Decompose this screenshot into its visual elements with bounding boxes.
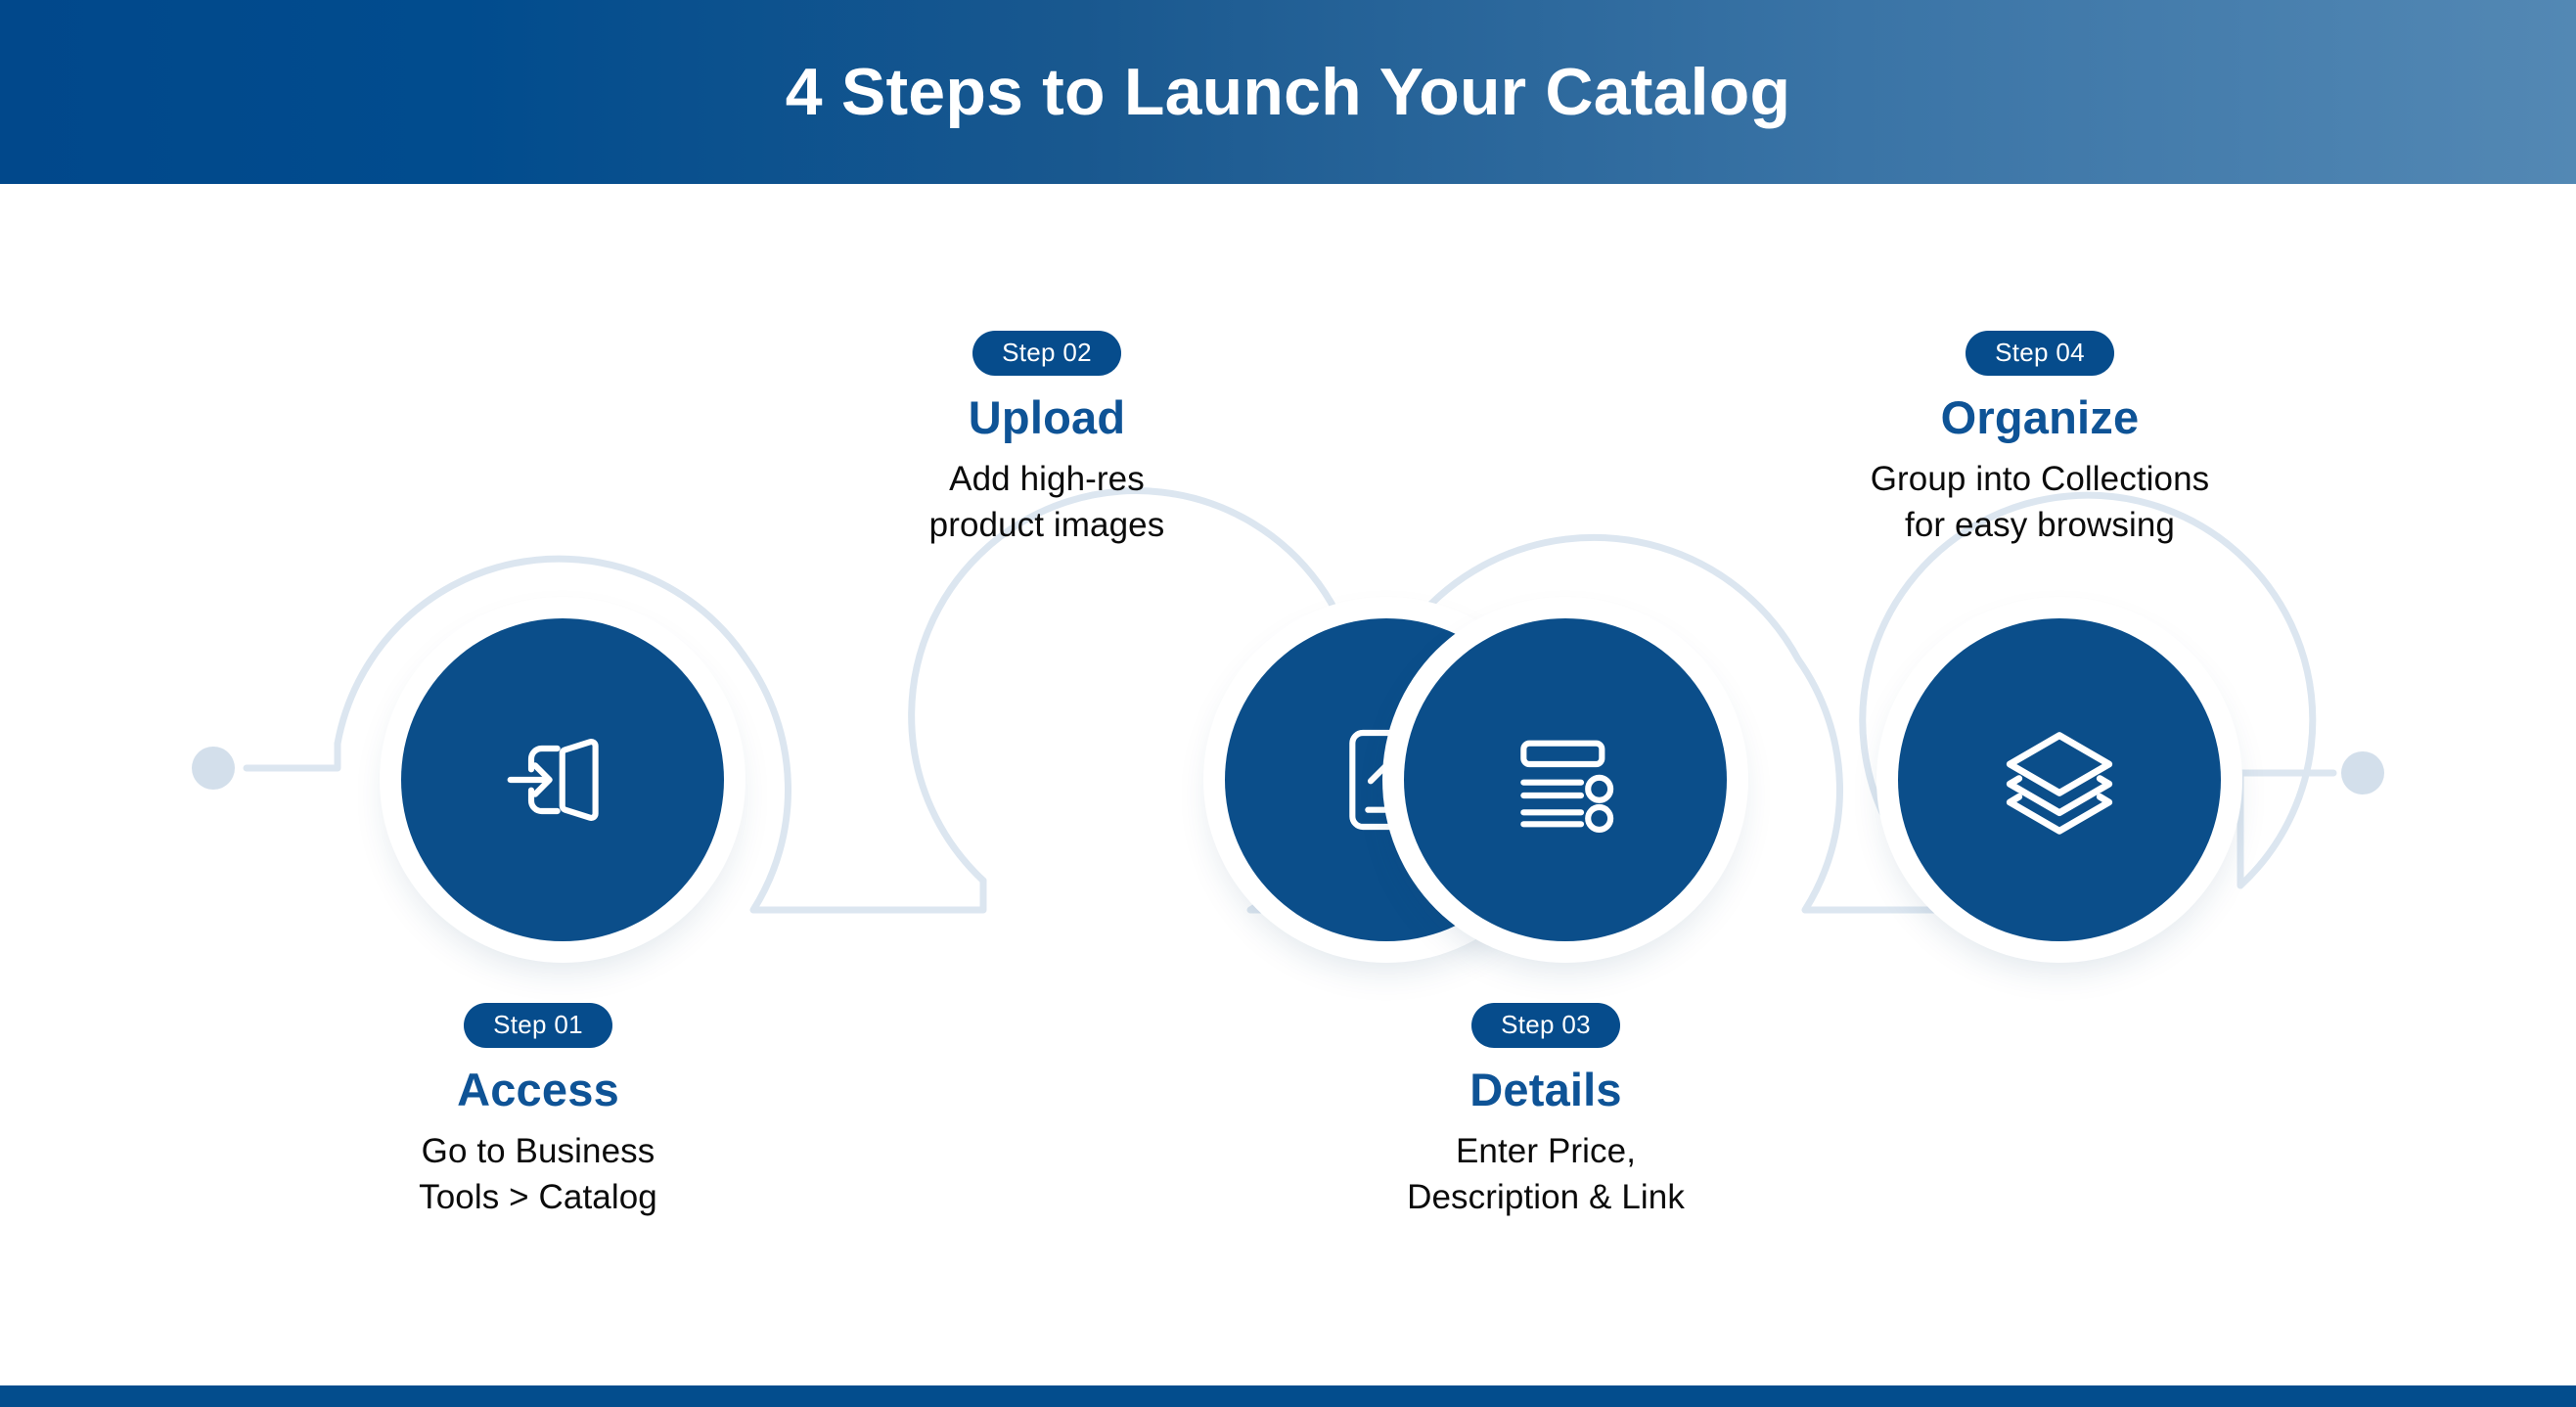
step-badge-3: Step 03 — [1471, 1003, 1620, 1048]
step-desc-4: Group into Collections for easy browsing — [1766, 457, 2314, 547]
step-badge-1: Step 01 — [464, 1003, 612, 1048]
layers-stack-icon — [1997, 717, 2122, 842]
step-desc-1: Go to Business Tools > Catalog — [264, 1129, 812, 1219]
step-desc-3: Enter Price, Description & Link — [1272, 1129, 1820, 1219]
connector-dot-right — [2341, 751, 2384, 794]
step-text-1: Step 01 Access Go to Business Tools > Ca… — [264, 1003, 812, 1220]
footer-bar — [0, 1385, 2576, 1407]
step-circle-1[interactable] — [401, 618, 724, 941]
step-desc-3-line2: Description & Link — [1272, 1175, 1820, 1220]
step-badge-4: Step 04 — [1966, 331, 2114, 376]
page-title: 4 Steps to Launch Your Catalog — [786, 59, 1790, 125]
step-text-4: Step 04 Organize Group into Collections … — [1766, 331, 2314, 548]
step-desc-1-line1: Go to Business — [264, 1129, 812, 1174]
step-desc-2-line2: product images — [773, 503, 1321, 548]
form-list-icon — [1503, 717, 1628, 842]
step-desc-3-line1: Enter Price, — [1272, 1129, 1820, 1174]
step-badge-2: Step 02 — [972, 331, 1121, 376]
step-title-1: Access — [264, 1066, 812, 1113]
step-title-3: Details — [1272, 1066, 1820, 1113]
step-desc-2: Add high-res product images — [773, 457, 1321, 547]
step-circle-3[interactable] — [1404, 618, 1727, 941]
step-text-2: Step 02 Upload Add high-res product imag… — [773, 331, 1321, 548]
step-desc-4-line2: for easy browsing — [1766, 503, 2314, 548]
step-text-3: Step 03 Details Enter Price, Description… — [1272, 1003, 1820, 1220]
login-door-icon — [500, 717, 625, 842]
step-desc-2-line1: Add high-res — [773, 457, 1321, 502]
step-desc-4-line1: Group into Collections — [1766, 457, 2314, 502]
connector-segment-1-2 — [746, 659, 983, 910]
header-banner: 4 Steps to Launch Your Catalog — [0, 0, 2576, 184]
connector-dot-left — [192, 747, 235, 790]
step-circle-4[interactable] — [1898, 618, 2221, 941]
step-title-4: Organize — [1766, 393, 2314, 441]
step-desc-1-line2: Tools > Catalog — [264, 1175, 812, 1220]
step-title-2: Upload — [773, 393, 1321, 441]
infographic-canvas: 4 Steps to Launch Your Catalog — [0, 0, 2576, 1407]
connector-segment-left — [247, 744, 338, 768]
